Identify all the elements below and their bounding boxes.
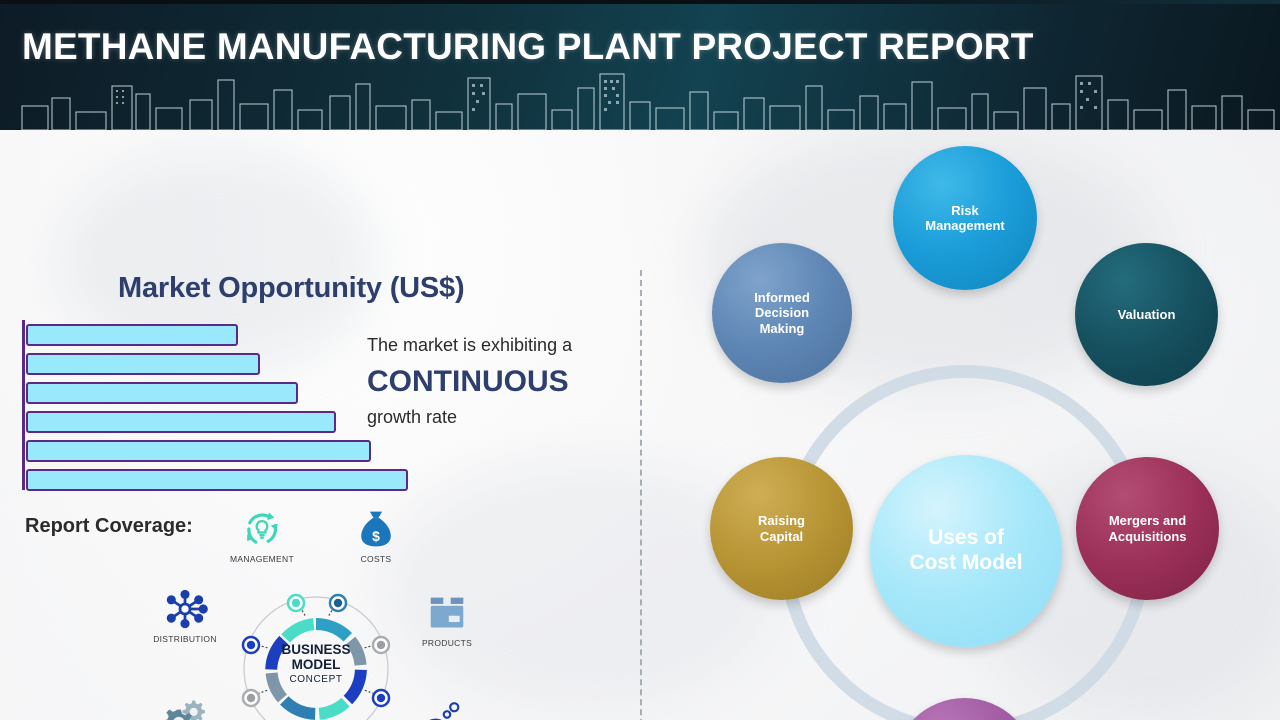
wheel-title-line2: MODEL <box>292 657 341 672</box>
bubble-mergers-and-acquisitions[interactable]: Mergers and Acquisitions <box>1076 457 1219 600</box>
market-opportunity-title: Market Opportunity (US$) <box>118 272 464 305</box>
header-top-strip <box>0 0 1280 4</box>
bubble-line: Acquisitions <box>1108 529 1186 544</box>
market-opportunity-bar-chart <box>22 320 412 490</box>
chart-bar <box>26 440 371 462</box>
money-bag-icon: $ <box>330 508 422 550</box>
coverage-label: PRODUCTS <box>401 638 493 648</box>
center-bubble-line1: Uses of <box>909 526 1022 551</box>
bubble-line: Mergers and <box>1108 513 1186 528</box>
report-coverage-label: Report Coverage: <box>25 515 193 538</box>
center-bubble-line2: Cost Model <box>909 551 1022 576</box>
coverage-item-distribution[interactable]: DISTRIBUTION <box>139 588 231 644</box>
panel-divider <box>640 270 642 720</box>
svg-text:$: $ <box>372 528 380 544</box>
wheel-title: BUSINESS MODEL <box>240 642 392 672</box>
box-package-icon <box>401 592 493 634</box>
chart-bar <box>26 324 238 346</box>
bubble-line: Risk <box>925 203 1004 218</box>
chart-y-axis <box>22 320 25 490</box>
chart-bar <box>26 469 408 491</box>
bubble-line: Raising <box>758 513 805 528</box>
gears-icon <box>139 695 231 720</box>
bubble-line: Decision <box>754 305 810 320</box>
wheel-title-line1: BUSINESS <box>281 642 350 657</box>
bubble-line: Valuation <box>1118 307 1176 322</box>
coverage-label: COSTS <box>330 554 422 564</box>
chart-bar <box>26 382 298 404</box>
coverage-item-revenue[interactable]: REVENUE <box>401 698 493 720</box>
bubble-line: Management <box>925 218 1004 233</box>
coverage-item-services[interactable]: SERVICES <box>139 695 231 720</box>
bubble-informed-decision-making[interactable]: Informed Decision Making <box>712 243 852 383</box>
chart-bar <box>26 353 260 375</box>
chart-bar <box>26 411 336 433</box>
page-header: METHANE MANUFACTURING PLANT PROJECT REPO… <box>0 0 1280 130</box>
bubble-raising-capital[interactable]: Raising Capital <box>710 457 853 600</box>
recycle-lightbulb-icon <box>216 508 308 550</box>
growth-statement: The market is exhibiting a CONTINUOUS gr… <box>367 334 637 429</box>
coverage-item-products[interactable]: PRODUCTS <box>401 592 493 648</box>
coverage-item-costs[interactable]: $ COSTS <box>330 508 422 564</box>
wheel-subtitle: CONCEPT <box>240 674 392 685</box>
bubble-line: Informed <box>754 290 810 305</box>
slide-body: Market Opportunity (US$) The market is e… <box>0 130 1280 720</box>
bubble-line: Making <box>754 321 810 336</box>
growth-line-2: CONTINUOUS <box>367 363 637 401</box>
business-model-wheel: BUSINESS MODEL CONCEPT <box>240 582 392 720</box>
bubble-line: Capital <box>758 529 805 544</box>
bubble-valuation[interactable]: Valuation <box>1075 243 1218 386</box>
page-title: METHANE MANUFACTURING PLANT PROJECT REPO… <box>22 26 1034 68</box>
growth-line-3: growth rate <box>367 406 637 429</box>
growth-line-1: The market is exhibiting a <box>367 334 637 357</box>
network-nodes-icon <box>139 588 231 630</box>
bubble-uses-of-cost-model[interactable]: Uses of Cost Model <box>870 455 1062 647</box>
hand-coins-icon <box>401 698 493 720</box>
coverage-label: MANAGEMENT <box>216 554 308 564</box>
bubble-risk-management[interactable]: Risk Management <box>893 146 1037 290</box>
coverage-item-management[interactable]: MANAGEMENT <box>216 508 308 564</box>
coverage-label: DISTRIBUTION <box>139 634 231 644</box>
city-skyline-graphic <box>0 60 1280 130</box>
